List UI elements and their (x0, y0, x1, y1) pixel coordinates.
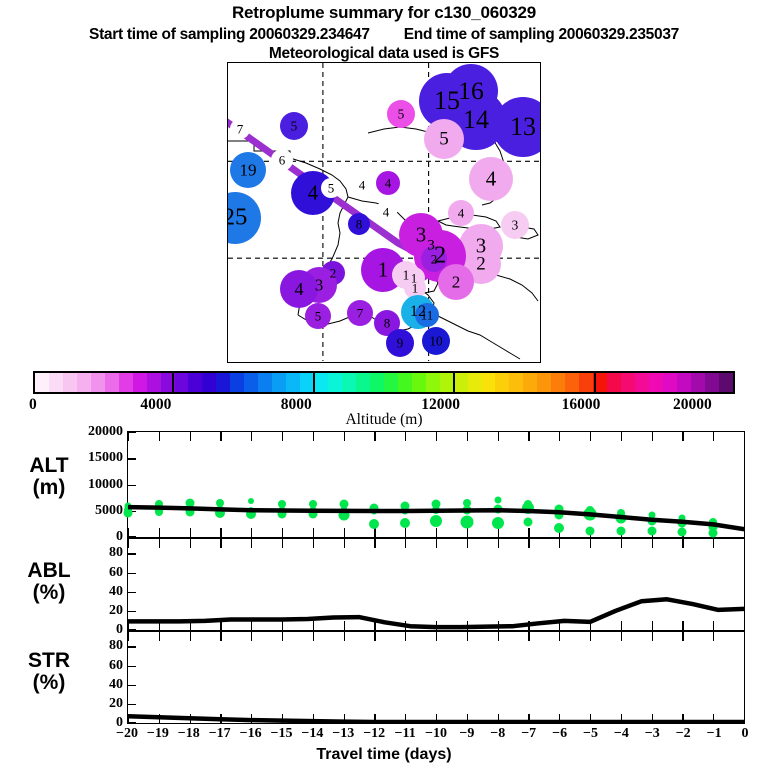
colorbar-segment (188, 373, 202, 392)
y-tick-label: 40 (109, 584, 123, 600)
x-tick (744, 432, 745, 441)
colorbar-segment (649, 373, 663, 392)
panel-name-alt: ALT(m) (6, 455, 92, 499)
bubble-label: 5 (439, 130, 449, 149)
colorbar-segment (398, 373, 412, 392)
colorbar-segment (691, 373, 705, 392)
colorbar-segment (468, 373, 482, 392)
colorbar-segment (147, 373, 161, 392)
colorbar-segment (495, 373, 509, 392)
colorbar-segment (607, 373, 621, 392)
colorbar-segment (440, 373, 454, 392)
bubble-label: 25 (227, 206, 247, 231)
panel-unit-text: (m) (6, 477, 92, 499)
colorbar-segment (579, 373, 593, 392)
bubble-label: 4 (385, 177, 392, 190)
x-axis-tick-label: −5 (583, 726, 598, 742)
colorbar-segment (258, 373, 272, 392)
bubble-label: 1 (403, 268, 410, 281)
panel-name-text: ABL (6, 560, 92, 582)
bubble-label: 2 (476, 255, 486, 274)
x-axis-tick-label: −15 (271, 726, 293, 742)
bubble-label: 2 (431, 253, 438, 266)
x-axis-tick-label: −20 (116, 726, 138, 742)
y-tick-label: 20 (109, 603, 123, 619)
x-tick (744, 714, 745, 723)
colorbar-segment (63, 373, 77, 392)
bubble-label: 6 (279, 154, 286, 167)
colorbar-segment (635, 373, 649, 392)
colorbar-segment (384, 373, 398, 392)
bubble-label: 2 (330, 267, 337, 280)
y-tick-label: 20 (109, 696, 123, 712)
x-axis-tick-label: −16 (240, 726, 262, 742)
colorbar-segment (551, 373, 565, 392)
colorbar-segment (356, 373, 370, 392)
y-tick-label: 20000 (88, 424, 123, 440)
bubble-label: 4 (486, 169, 496, 190)
x-axis-tick-label: −6 (552, 726, 567, 742)
colorbar-tick (453, 371, 455, 394)
colorbar-segment (91, 373, 105, 392)
x-axis-title: Travel time (days) (0, 746, 768, 764)
bubble-label: 19 (239, 161, 256, 178)
panel-alt[interactable]: 05000100001500020000 (127, 431, 745, 538)
colorbar-tick (172, 371, 174, 394)
page-title: Retroplume summary for c130_060329 (0, 3, 768, 23)
bubble-label: 4 (308, 183, 318, 204)
x-axis-tick-label: −17 (209, 726, 231, 742)
y-tick-label: 5000 (95, 503, 123, 519)
x-axis-tick-label: −2 (676, 726, 691, 742)
bubble-label: 13 (510, 114, 536, 140)
x-axis-tick-label: −14 (301, 726, 323, 742)
bubble-label: 9 (397, 336, 404, 349)
panel-name-abl: ABL(%) (6, 560, 92, 604)
trend-line-svg (128, 632, 744, 723)
bubble-label: 7 (237, 123, 244, 136)
colorbar-segment (523, 373, 537, 392)
y-tick-label: 80 (109, 545, 123, 561)
colorbar-segment (705, 373, 719, 392)
bubble-label: 14 (463, 107, 489, 133)
colorbar-segment (426, 373, 440, 392)
panel-name-text: STR (6, 650, 92, 672)
colorbar-segment (454, 373, 468, 392)
bubble-label: 1 (378, 260, 388, 281)
panel-name-text: ALT (6, 455, 92, 477)
x-tick (744, 528, 745, 537)
colorbar-segment (621, 373, 635, 392)
sampling-times: Start time of sampling 20060329.234647 E… (0, 26, 768, 44)
bubble-label: 5 (398, 107, 405, 120)
colorbar-segment (370, 373, 384, 392)
x-tick (744, 632, 745, 641)
colorbar-segment (272, 373, 286, 392)
x-axis-tick-label: −12 (363, 726, 385, 742)
start-time-label: Start time of sampling 20060329.234647 (89, 26, 370, 44)
colorbar[interactable] (33, 371, 735, 394)
y-tick-label: 40 (109, 677, 123, 693)
bubble-label: 11 (421, 309, 434, 322)
met-data-label: Meteorological data used is GFS (0, 45, 768, 63)
panel-unit-text: (%) (6, 582, 92, 604)
colorbar-segment (175, 373, 189, 392)
y-tick-label: 15000 (88, 450, 123, 466)
y-tick-label: 60 (109, 565, 123, 581)
x-axis-tick-label: −9 (459, 726, 474, 742)
colorbar-segment (49, 373, 63, 392)
panel-str[interactable]: 020406080 (127, 631, 745, 724)
colorbar-segment (314, 373, 328, 392)
colorbar-segment (719, 373, 733, 392)
colorbar-segment (230, 373, 244, 392)
x-axis-tick-label: −13 (332, 726, 354, 742)
y-tick-label: 10000 (88, 477, 123, 493)
colorbar-segment (663, 373, 677, 392)
colorbar-segment (286, 373, 300, 392)
bubble-label: 4 (359, 179, 366, 192)
bubble-label: 4 (383, 206, 390, 219)
y-tick-label: 80 (109, 638, 123, 654)
colorbar-segment (677, 373, 691, 392)
bubble-label: 8 (356, 218, 363, 231)
panel-abl[interactable]: 020406080 (127, 538, 745, 631)
x-axis-tick-label: −10 (425, 726, 447, 742)
colorbar-segment (77, 373, 91, 392)
colorbar-tick (594, 371, 596, 394)
colorbar-segment (565, 373, 579, 392)
end-time-label: End time of sampling 20060329.235037 (404, 26, 679, 44)
bubble-label: 1 (412, 282, 419, 295)
trend-line-svg (128, 539, 744, 630)
bubble-label: 8 (384, 317, 391, 330)
colorbar-segment (537, 373, 551, 392)
bubble-label: 3 (416, 225, 426, 246)
bubble-label: 5 (291, 119, 298, 132)
bubble-label: 3 (315, 276, 324, 293)
colorbar-segment (202, 373, 216, 392)
x-axis-tick-label: −4 (614, 726, 629, 742)
bubble-label: 4 (458, 207, 465, 220)
x-axis-tick-label: −18 (178, 726, 200, 742)
bubble-label: 4 (294, 280, 303, 298)
panel-unit-text: (%) (6, 672, 92, 694)
colorbar-segment (133, 373, 147, 392)
x-tick (744, 539, 745, 548)
trend-line-svg (128, 432, 744, 537)
x-axis-tick-label: −7 (521, 726, 536, 742)
x-axis-tick-label: −19 (147, 726, 169, 742)
bubble-label: 5 (328, 182, 335, 195)
y-tick-label: 0 (116, 529, 123, 545)
panel-name-str: STR(%) (6, 650, 92, 694)
colorbar-segment (412, 373, 426, 392)
bubble-label: 2 (452, 273, 461, 290)
colorbar-segment (244, 373, 258, 392)
bubble-label: 16 (458, 78, 484, 104)
y-tick-label: 0 (116, 622, 123, 638)
colorbar-segment (482, 373, 496, 392)
x-axis-tick-label: −1 (707, 726, 722, 742)
colorbar-segment (509, 373, 523, 392)
colorbar-segment (216, 373, 230, 392)
colorbar-tick (313, 371, 315, 394)
y-tick-label: 60 (109, 658, 123, 674)
colorbar-segment (35, 373, 49, 392)
x-axis-tick-label: −8 (490, 726, 505, 742)
x-axis-tick-label: −3 (645, 726, 660, 742)
bubble-label: 3 (512, 218, 519, 231)
colorbar-segment (342, 373, 356, 392)
bubble-label: 10 (429, 334, 442, 347)
bubble-label: 7 (357, 307, 364, 320)
x-tick (744, 621, 745, 630)
bubble-label: 15 (434, 88, 460, 114)
colorbar-segment (105, 373, 119, 392)
bubble-label: 5 (315, 310, 322, 323)
colorbar-segment (119, 373, 133, 392)
x-axis-tick-label: −11 (394, 726, 415, 742)
retroplume-map[interactable]: 1516141355576194443254548333222111122345… (227, 62, 541, 363)
x-axis-tick-label: 0 (742, 726, 749, 742)
colorbar-segment (328, 373, 342, 392)
